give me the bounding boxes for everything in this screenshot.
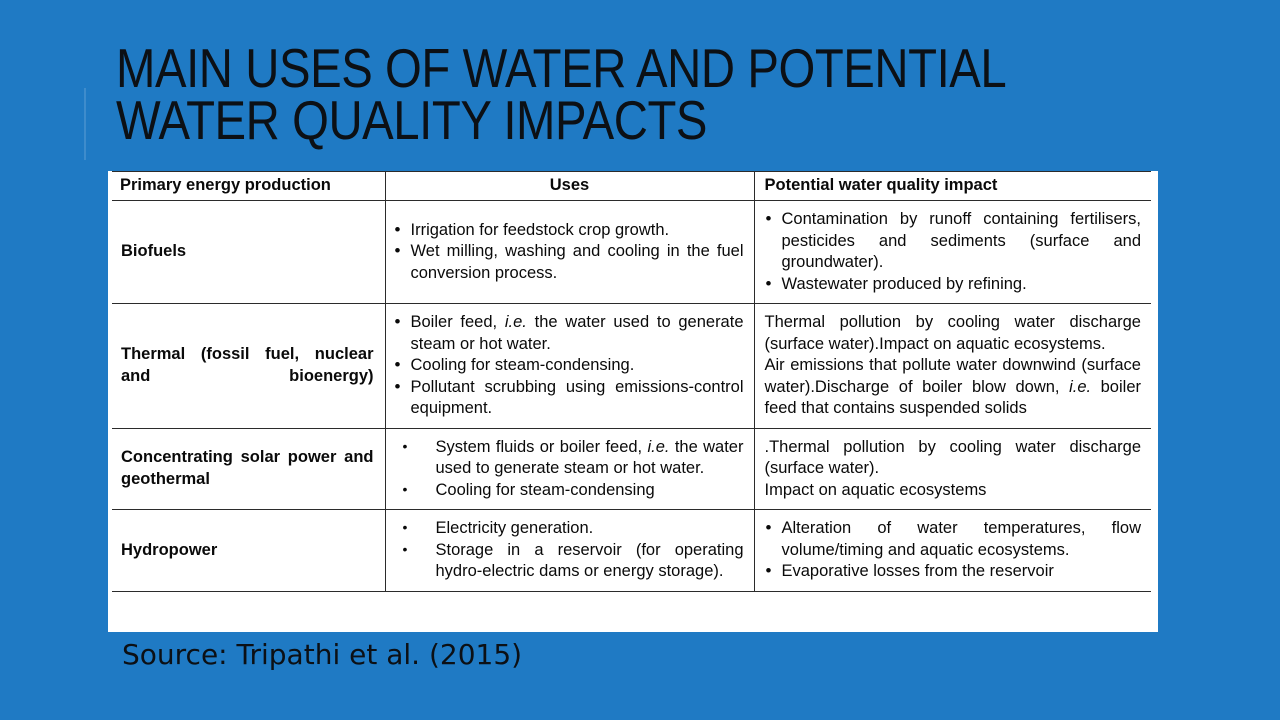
list-item: Wet milling, washing and cooling in the … <box>394 241 744 284</box>
table-row: HydropowerElectricity generation.Storage… <box>112 510 1151 592</box>
uses-list: Boiler feed, i.e. the water used to gene… <box>394 312 744 420</box>
list-item: Cooling for steam-condensing. <box>394 355 744 377</box>
list-item: System fluids or boiler feed, i.e. the w… <box>394 437 744 480</box>
table-row: Concentrating solar power and geothermal… <box>112 428 1151 510</box>
list-item: Wastewater produced by refining. <box>765 274 1142 296</box>
list-item: Electricity generation. <box>394 518 744 540</box>
list-item: Storage in a reservoir (for operating hy… <box>394 540 744 583</box>
impact-paragraph: Impact on aquatic ecosystems <box>765 480 1142 502</box>
impact-list: Alteration of water temperatures, flow v… <box>765 518 1142 583</box>
cell-primary-energy-production: Concentrating solar power and geothermal <box>112 428 385 510</box>
cell-potential-water-quality-impact: Contamination by runoff containing ferti… <box>754 201 1151 304</box>
column-header-primary-energy-production: Primary energy production <box>112 172 385 201</box>
cell-uses: Irrigation for feedstock crop growth.Wet… <box>385 201 754 304</box>
page-title: MAIN USES OF WATER AND POTENTIAL WATER Q… <box>116 42 1010 146</box>
list-item: Contamination by runoff containing ferti… <box>765 209 1142 274</box>
table-header-row: Primary energy production Uses Potential… <box>112 172 1151 201</box>
cell-potential-water-quality-impact: Thermal pollution by cooling water disch… <box>754 304 1151 429</box>
table-panel: Primary energy production Uses Potential… <box>108 171 1158 632</box>
cell-primary-energy-production: Biofuels <box>112 201 385 304</box>
cell-primary-energy-production: Thermal (fossil fuel, nuclear and bioene… <box>112 304 385 429</box>
impact-list: Contamination by runoff containing ferti… <box>765 209 1142 295</box>
list-item: Pollutant scrubbing using emissions-cont… <box>394 377 744 420</box>
impact-paragraph: Air emissions that pollute water downwin… <box>765 355 1142 420</box>
impact-paragraph: .Thermal pollution by cooling water disc… <box>765 437 1142 480</box>
title-accent-bar <box>84 88 86 160</box>
table-row: BiofuelsIrrigation for feedstock crop gr… <box>112 201 1151 304</box>
cell-potential-water-quality-impact: Alteration of water temperatures, flow v… <box>754 510 1151 592</box>
table-body: BiofuelsIrrigation for feedstock crop gr… <box>112 201 1151 592</box>
table-header: Primary energy production Uses Potential… <box>112 172 1151 201</box>
column-header-uses: Uses <box>385 172 754 201</box>
cell-potential-water-quality-impact: .Thermal pollution by cooling water disc… <box>754 428 1151 510</box>
list-item: Cooling for steam-condensing <box>394 480 744 502</box>
cell-primary-energy-production: Hydropower <box>112 510 385 592</box>
uses-list: System fluids or boiler feed, i.e. the w… <box>394 437 744 502</box>
impact-paragraph: Thermal pollution by cooling water disch… <box>765 312 1142 355</box>
water-uses-table: Primary energy production Uses Potential… <box>112 171 1151 592</box>
list-item: Evaporative losses from the reservoir <box>765 561 1142 583</box>
slide-canvas: MAIN USES OF WATER AND POTENTIAL WATER Q… <box>0 0 1280 720</box>
uses-list: Irrigation for feedstock crop growth.Wet… <box>394 220 744 285</box>
column-header-potential-water-quality-impact: Potential water quality impact <box>754 172 1151 201</box>
cell-uses: System fluids or boiler feed, i.e. the w… <box>385 428 754 510</box>
list-item: Alteration of water temperatures, flow v… <box>765 518 1142 561</box>
list-item: Irrigation for feedstock crop growth. <box>394 220 744 242</box>
table-row: Thermal (fossil fuel, nuclear and bioene… <box>112 304 1151 429</box>
cell-uses: Boiler feed, i.e. the water used to gene… <box>385 304 754 429</box>
source-caption: Source: Tripathi et al. (2015) <box>122 638 522 672</box>
list-item: Boiler feed, i.e. the water used to gene… <box>394 312 744 355</box>
uses-list: Electricity generation.Storage in a rese… <box>394 518 744 583</box>
cell-uses: Electricity generation.Storage in a rese… <box>385 510 754 592</box>
